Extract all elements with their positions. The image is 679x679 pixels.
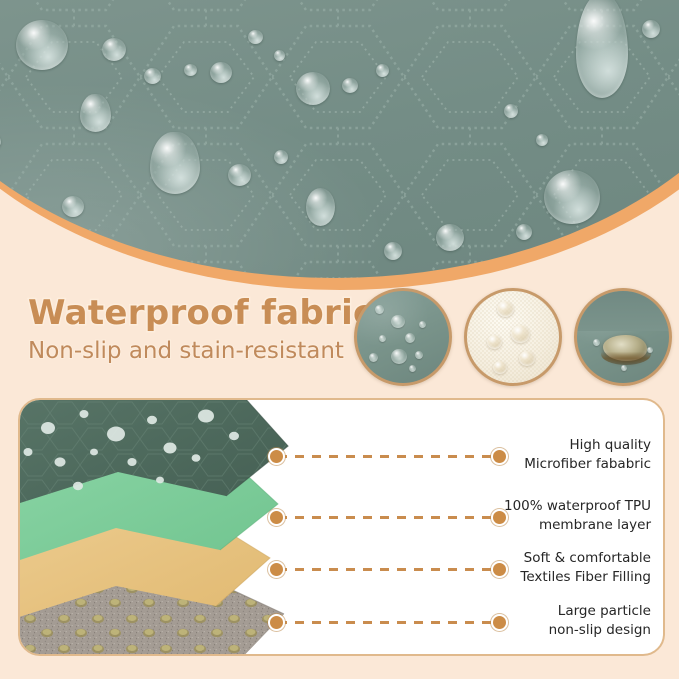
hero-fabric-surface [0,0,679,278]
headline-block: Waterproof fabric Non-slip and stain-res… [28,296,374,364]
inset-water-beading-on-mesh [464,288,562,386]
callout-label-4: Large particlenon-slip design [371,602,651,639]
callout-label-1: High qualityMicrofiber fababric [371,436,651,473]
callout-label-3-line1: Soft & comfortable [524,550,651,566]
callout-label-2-line2: membrane layer [539,517,651,533]
inset-water-beading-on-fabric [354,288,452,386]
callout-label-1-line2: Microfiber fababric [524,456,651,472]
callout-label-4-line2: non-slip design [549,622,651,638]
callout-label-1-line1: High quality [569,437,651,453]
hero-fabric-image [0,0,679,300]
callout-label-2: 100% waterproof TPUmembrane layer [371,497,651,534]
callout-dot-layer-4 [268,614,285,631]
product-infographic: Waterproof fabric Non-slip and stain-res… [0,0,679,679]
callout-dot-layer-3 [268,561,285,578]
quilt-stitch-texture [0,0,679,278]
callout-label-3-line2: Textiles Fiber Filling [520,569,651,585]
page-title: Waterproof fabric [28,296,374,332]
callout-dot-layer-1 [268,448,285,465]
callout-label-4-line1: Large particle [558,603,651,619]
callout-label-2-line1: 100% waterproof TPU [504,498,651,514]
callout-label-3: Soft & comfortableTextiles Fiber Filling [371,549,651,586]
callout-dot-layer-2 [268,509,285,526]
inset-coffee-spill-repelled [574,288,672,386]
layer-construction-panel: High qualityMicrofiber fababric 100% wat… [18,398,665,656]
page-subtitle: Non-slip and stain-resistant [28,338,374,364]
